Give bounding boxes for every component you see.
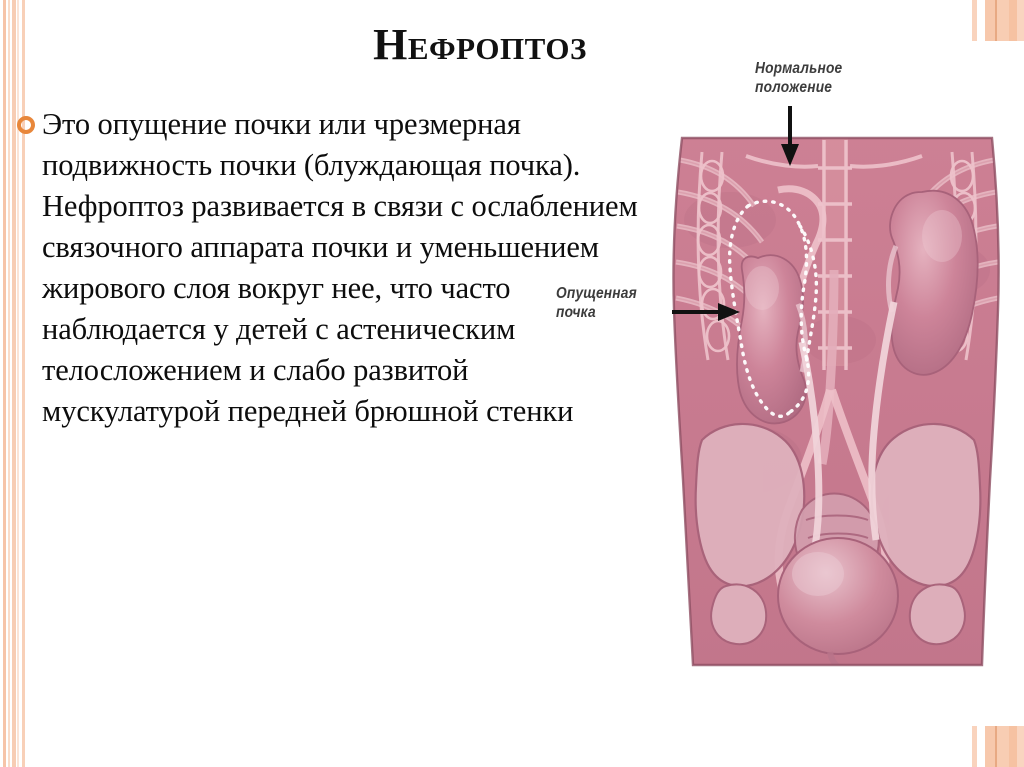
- border-stripe: [985, 0, 995, 41]
- border-stripe: [1017, 726, 1024, 767]
- ring-bullet-icon: [17, 116, 35, 134]
- border-stripe: [3, 0, 6, 767]
- callout-normal-position: Нормальное положение: [755, 60, 842, 98]
- torso-body: [660, 130, 1010, 675]
- bottom-right-corner-decoration: [972, 726, 1024, 767]
- top-right-corner-decoration: [972, 0, 1024, 41]
- border-stripe: [972, 0, 977, 41]
- border-stripe: [1009, 726, 1017, 767]
- anatomy-illustration: [550, 40, 1020, 680]
- callout-dropped-kidney: Опущенная почка: [556, 285, 637, 323]
- border-stripe: [8, 0, 10, 767]
- kidney-anatomy-svg: [550, 40, 1020, 680]
- kidney-dropped: [737, 255, 806, 423]
- border-stripe: [1009, 0, 1017, 41]
- slide-root: Нефроптоз Это опущение почки или чрезмер…: [0, 0, 1024, 767]
- border-stripe: [997, 726, 1009, 767]
- border-stripe: [1017, 0, 1024, 41]
- border-stripe: [985, 726, 995, 767]
- border-stripe: [997, 0, 1009, 41]
- border-stripe: [972, 726, 977, 767]
